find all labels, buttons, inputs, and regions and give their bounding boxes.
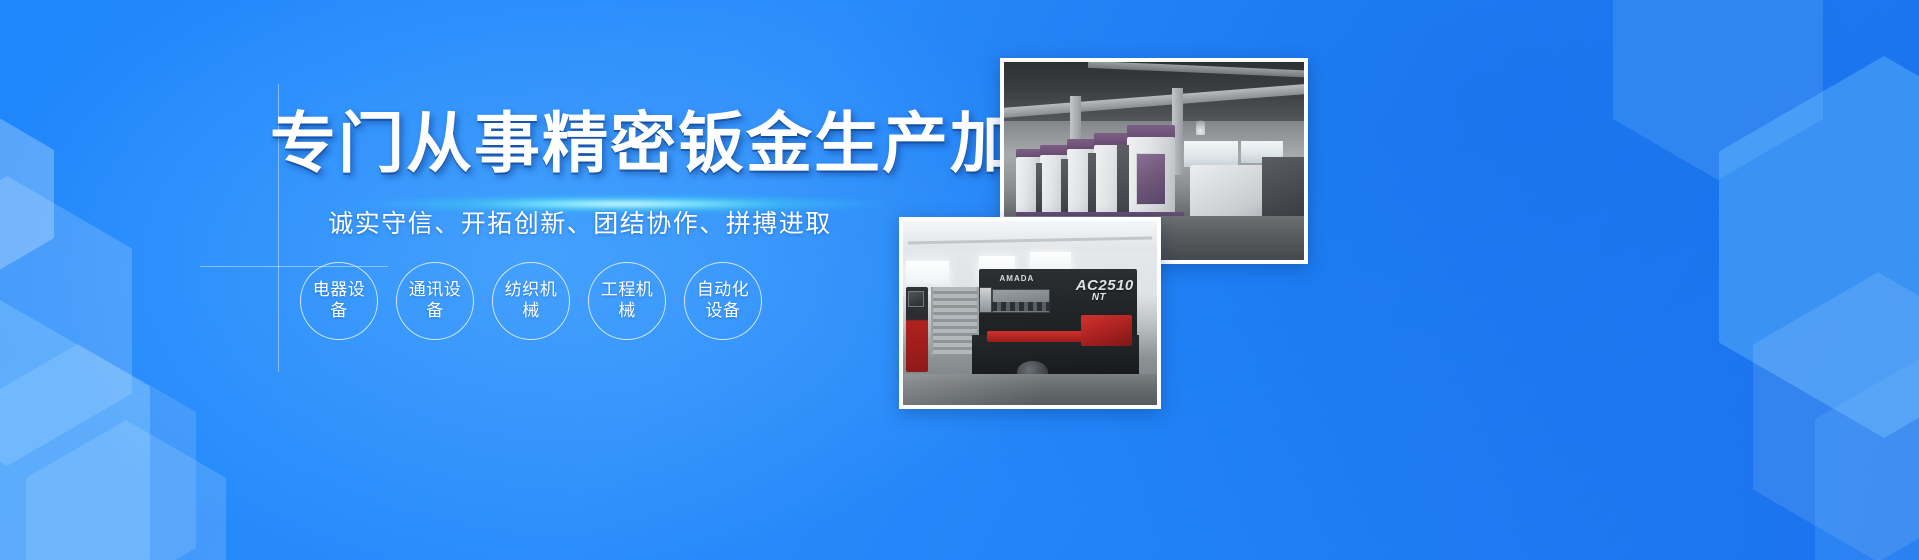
hexagon-shape-right-upper [1719, 56, 1919, 438]
hero-banner: 专门从事精密钣金生产加工 诚实守信、开拓创新、团结协作、拼搏进取 电器设备 通讯… [0, 0, 1919, 560]
industry-badge-label: 自动化设备 [692, 280, 754, 321]
hexagon-shape-left-bottom [26, 420, 226, 560]
hexagon-shape-left-lower [0, 344, 196, 560]
banner-subtitle: 诚实守信、开拓创新、团结协作、拼搏进取 [270, 208, 890, 241]
workshop-window [1184, 141, 1238, 167]
machine-viewing-window [1136, 153, 1166, 204]
hexagon-shape-right-mid [1753, 272, 1919, 560]
hanging-lamp [1196, 117, 1205, 135]
machine-control-panel [1117, 145, 1129, 220]
machine-model-label: AC2510 NT [1076, 278, 1134, 303]
industry-badge[interactable]: 通讯设备 [396, 262, 474, 340]
industry-badge-label: 电器设备 [308, 280, 370, 321]
floor-reflection [903, 374, 1157, 405]
hexagon-shape-right-top [1613, 0, 1823, 180]
machine-control-panel [1088, 153, 1096, 216]
hexagon-shape-right-bottom [1815, 338, 1919, 560]
machine-red-housing [1081, 315, 1132, 346]
industry-badge-label: 通讯设备 [404, 280, 466, 321]
industry-badge[interactable]: 自动化设备 [684, 262, 762, 340]
industry-badge[interactable]: 纺织机械 [492, 262, 570, 340]
hexagon-shape-left-top [0, 106, 54, 282]
hexagon-shape-left-upper [0, 176, 132, 466]
machine-model-suffix-text: NT [1092, 293, 1134, 303]
hexagon-shape-left-mid [0, 300, 150, 560]
machine-side-panel [979, 287, 992, 313]
industry-badge[interactable]: 电器设备 [300, 262, 378, 340]
industry-badge-list: 电器设备 通讯设备 纺织机械 工程机械 自动化设备 [300, 262, 762, 340]
industry-badge-label: 纺织机械 [500, 280, 562, 321]
secondary-machine [1190, 165, 1268, 224]
factory-photo-amada-turret-punch: AMADA AC2510 NT [899, 217, 1161, 409]
machine-control-panel [1061, 159, 1068, 214]
banner-headline: 专门从事精密钣金生产加工 [270, 110, 890, 176]
industry-badge[interactable]: 工程机械 [588, 262, 666, 340]
industry-badge-label: 工程机械 [596, 280, 658, 321]
machine-control-panel [1036, 163, 1042, 213]
console-screen [908, 291, 925, 308]
machine-brand-label: AMADA [1000, 274, 1035, 283]
turret-tool-row [992, 302, 1050, 311]
workshop-ceiling [903, 221, 1157, 250]
photo-content-punch-press: AMADA AC2510 NT [903, 221, 1157, 405]
headline-block: 专门从事精密钣金生产加工 [270, 110, 890, 176]
background-machine [1262, 157, 1304, 216]
